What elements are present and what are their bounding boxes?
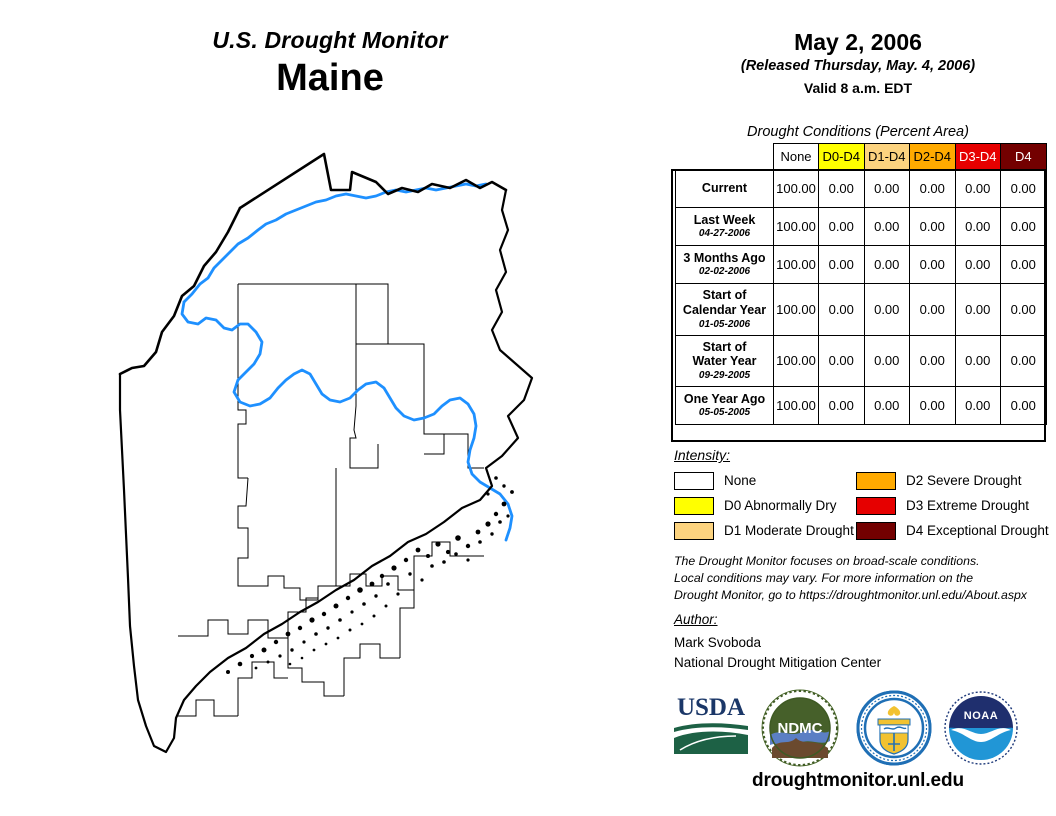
legend-label: None [724, 473, 756, 488]
cell-d3-d4: 0.00 [955, 170, 1001, 208]
legend-column-right: D2 Severe DroughtD3 Extreme DroughtD4 Ex… [856, 468, 1049, 543]
cell-d0-d4: 0.00 [819, 284, 865, 336]
row-label: Current [676, 170, 774, 208]
drought-conditions-table: None D0-D4 D1-D4 D2-D4 D3-D4 D4 Current1… [675, 143, 1047, 425]
legend-label: D3 Extreme Drought [906, 498, 1029, 513]
legend-item: D0 Abnormally Dry [674, 493, 854, 518]
usda-logo[interactable]: USDA [670, 688, 752, 758]
author-name: Mark Svoboda [674, 633, 881, 653]
cell-d3-d4: 0.00 [955, 335, 1001, 387]
legend-label: D1 Moderate Drought [724, 523, 854, 538]
legend-swatch [674, 472, 714, 490]
cell-d2-d4: 0.00 [910, 284, 956, 336]
row-date: 04-27-2006 [678, 227, 771, 240]
map-panel: U.S. Drought Monitor Maine [0, 0, 660, 816]
author-block: Mark Svoboda National Drought Mitigation… [674, 633, 881, 673]
cell-none: 100.00 [774, 170, 819, 208]
author-heading: Author: [674, 612, 718, 627]
map-svg [88, 138, 568, 778]
disclaimer-line-1: The Drought Monitor focuses on broad-sca… [674, 553, 1027, 570]
cell-d0-d4: 0.00 [819, 246, 865, 284]
table-row: Current100.000.000.000.000.000.00 [676, 170, 1047, 208]
table-header-row: None D0-D4 D1-D4 D2-D4 D3-D4 D4 [676, 144, 1047, 170]
noaa-logo-text: NOAA [964, 710, 998, 722]
row-label: Last Week04-27-2006 [676, 208, 774, 246]
legend-swatch [674, 522, 714, 540]
legend-swatch [856, 497, 896, 515]
legend-item: D4 Exceptional Drought [856, 518, 1049, 543]
table-body: Current100.000.000.000.000.000.00Last We… [676, 170, 1047, 425]
table-row: Start ofCalendar Year01-05-2006100.000.0… [676, 284, 1047, 336]
row-date: 01-05-2006 [678, 318, 771, 331]
cell-d3-d4: 0.00 [955, 208, 1001, 246]
cell-d1-d4: 0.00 [864, 208, 910, 246]
legend-column-left: NoneD0 Abnormally DryD1 Moderate Drought [674, 468, 854, 543]
cell-d4: 0.00 [1001, 387, 1047, 425]
legend-swatch [674, 497, 714, 515]
date-block: May 2, 2006 (Released Thursday, May. 4, … [660, 30, 1056, 98]
cell-d0-d4: 0.00 [819, 170, 865, 208]
cell-none: 100.00 [774, 246, 819, 284]
cell-none: 100.00 [774, 387, 819, 425]
legend-swatch [856, 522, 896, 540]
cell-none: 100.00 [774, 284, 819, 336]
state-title: Maine [0, 55, 660, 103]
table-row: One Year Ago05-05-2005100.000.000.000.00… [676, 387, 1047, 425]
disclaimer-line-3: Drought Monitor, go to https://droughtmo… [674, 587, 1027, 604]
page-title: U.S. Drought Monitor [0, 28, 660, 52]
cell-d2-d4: 0.00 [910, 208, 956, 246]
cell-d3-d4: 0.00 [955, 387, 1001, 425]
column-header-d0-d4: D0-D4 [819, 144, 865, 170]
cell-d2-d4: 0.00 [910, 387, 956, 425]
table-row: Start ofWater Year09-29-2005100.000.000.… [676, 335, 1047, 387]
row-label: Start ofCalendar Year01-05-2006 [676, 284, 774, 336]
column-header-d3-d4: D3-D4 [955, 144, 1001, 170]
cell-d4: 0.00 [1001, 170, 1047, 208]
ndmc-logo-text: NDMC [778, 720, 823, 737]
legend-swatch [856, 472, 896, 490]
disclaimer-text: The Drought Monitor focuses on broad-sca… [674, 553, 1027, 604]
ndmc-logo[interactable]: NDMC [760, 688, 840, 768]
legend-item: D3 Extreme Drought [856, 493, 1049, 518]
usda-logo-text: USDA [677, 694, 745, 721]
cell-d0-d4: 0.00 [819, 208, 865, 246]
table-caption: Drought Conditions (Percent Area) [660, 124, 1056, 140]
legend-item: D2 Severe Drought [856, 468, 1049, 493]
legend-label: D0 Abnormally Dry [724, 498, 837, 513]
cell-none: 100.00 [774, 208, 819, 246]
logo-row: USDA NDMC [664, 688, 1056, 772]
cell-d4: 0.00 [1001, 284, 1047, 336]
valid-time: Valid 8 a.m. EDT [660, 78, 1056, 98]
cell-d1-d4: 0.00 [864, 284, 910, 336]
legend-label: D2 Severe Drought [906, 473, 1022, 488]
row-label: 3 Months Ago02-02-2006 [676, 246, 774, 284]
header-spacer [676, 144, 774, 170]
cell-d0-d4: 0.00 [819, 387, 865, 425]
valid-date: May 2, 2006 [660, 30, 1056, 56]
cell-d0-d4: 0.00 [819, 335, 865, 387]
cell-d2-d4: 0.00 [910, 335, 956, 387]
cell-d3-d4: 0.00 [955, 246, 1001, 284]
row-label: Start ofWater Year09-29-2005 [676, 335, 774, 387]
author-organization: National Drought Mitigation Center [674, 653, 881, 673]
row-label: One Year Ago05-05-2005 [676, 387, 774, 425]
column-header-d2-d4: D2-D4 [910, 144, 956, 170]
row-date: 02-02-2006 [678, 265, 771, 278]
table-row: Last Week04-27-2006100.000.000.000.000.0… [676, 208, 1047, 246]
cell-d1-d4: 0.00 [864, 170, 910, 208]
cell-d1-d4: 0.00 [864, 335, 910, 387]
noaa-logo[interactable]: NOAA [941, 688, 1021, 768]
cell-d4: 0.00 [1001, 335, 1047, 387]
legend-item: None [674, 468, 854, 493]
column-header-d1-d4: D1-D4 [864, 144, 910, 170]
cell-d4: 0.00 [1001, 208, 1047, 246]
legend-label: D4 Exceptional Drought [906, 523, 1049, 538]
cell-d2-d4: 0.00 [910, 246, 956, 284]
cell-none: 100.00 [774, 335, 819, 387]
cell-d3-d4: 0.00 [955, 284, 1001, 336]
intensity-heading: Intensity: [674, 447, 730, 463]
cell-d2-d4: 0.00 [910, 170, 956, 208]
usdc-seal-logo[interactable] [854, 688, 934, 768]
table-header: None D0-D4 D1-D4 D2-D4 D3-D4 D4 [676, 144, 1047, 170]
disclaimer-line-2: Local conditions may vary. For more info… [674, 570, 1027, 587]
cell-d4: 0.00 [1001, 246, 1047, 284]
table-row: 3 Months Ago02-02-2006100.000.000.000.00… [676, 246, 1047, 284]
cell-d1-d4: 0.00 [864, 246, 910, 284]
maine-drought-map[interactable] [88, 138, 568, 778]
column-header-d4: D4 [1001, 144, 1047, 170]
cell-d1-d4: 0.00 [864, 387, 910, 425]
release-date: (Released Thursday, May. 4, 2006) [660, 56, 1056, 78]
state-fill [120, 154, 540, 750]
column-header-none: None [774, 144, 819, 170]
legend-item: D1 Moderate Drought [674, 518, 854, 543]
title-block: U.S. Drought Monitor Maine [0, 28, 660, 103]
info-panel: May 2, 2006 (Released Thursday, May. 4, … [660, 0, 1056, 816]
row-date: 05-05-2005 [678, 406, 771, 419]
website-url[interactable]: droughtmonitor.unl.edu [660, 770, 1056, 792]
row-date: 09-29-2005 [678, 369, 771, 382]
